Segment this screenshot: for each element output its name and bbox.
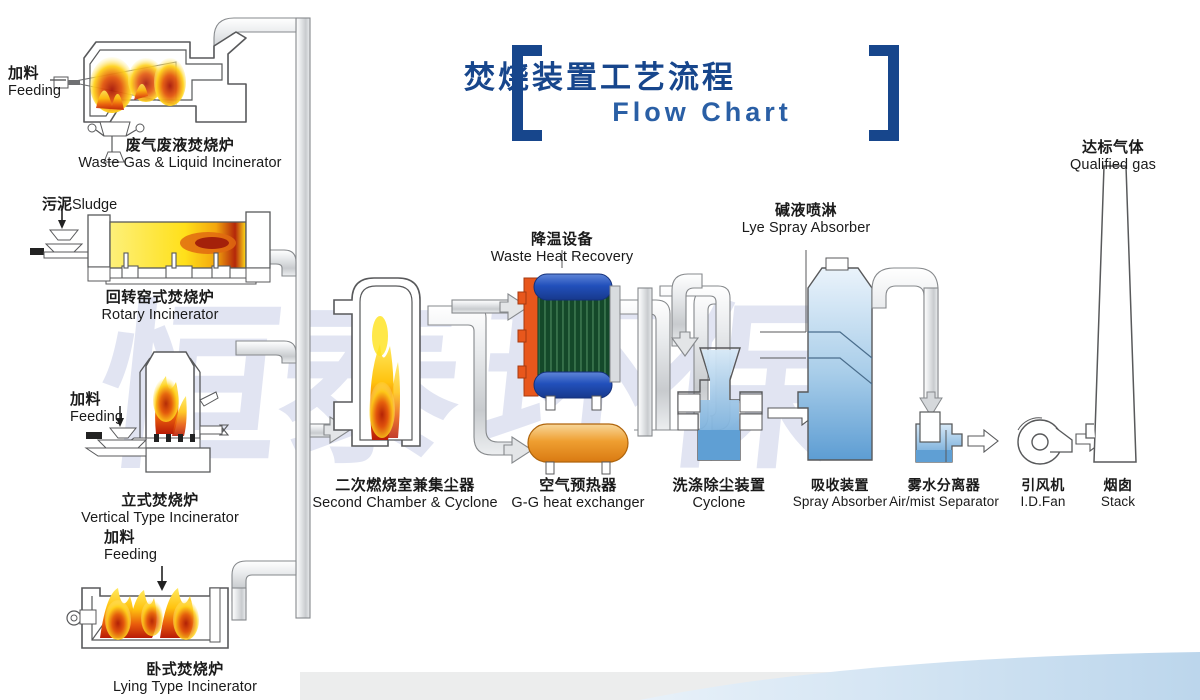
caption-en: Stack xyxy=(1101,494,1135,509)
caption-en: I.D.Fan xyxy=(1021,494,1066,509)
caption-en: Air/mist Separator xyxy=(889,494,999,509)
annotation-cn: 加料 xyxy=(70,392,123,409)
caption-cn: 引风机 xyxy=(1021,478,1066,494)
annotation-qualified-gas: 达标气体 Qualified gas xyxy=(1070,140,1156,173)
annotation-en: Feeding xyxy=(8,83,61,99)
caption-cn: 雾水分离器 xyxy=(889,478,999,494)
annotation-cn: 污泥 xyxy=(42,196,72,213)
page-title-en: Flow Chart xyxy=(612,97,792,128)
caption-cn: 烟囱 xyxy=(1101,478,1135,494)
caption-gg-heat-exchanger: 空气预热器 G-G heat exchanger xyxy=(511,478,644,511)
annotation-en: Feeding xyxy=(104,547,157,563)
annotation-cn: 降温设备 xyxy=(491,232,633,249)
caption-en: Cyclone xyxy=(672,495,765,511)
caption-cn: 吸收装置 xyxy=(793,478,887,494)
page-title-cn: 焚烧装置工艺流程 xyxy=(464,52,736,97)
caption-en: G-G heat exchanger xyxy=(511,495,644,511)
caption-cn: 立式焚烧炉 xyxy=(81,493,239,510)
caption-cn: 废气废液焚烧炉 xyxy=(78,138,281,155)
annotation-cn: 碱液喷淋 xyxy=(742,203,871,220)
caption-cn: 空气预热器 xyxy=(511,478,644,495)
caption-cn: 回转窑式焚烧炉 xyxy=(101,290,218,307)
annotation-en: Waste Heat Recovery xyxy=(491,249,633,265)
annotation-cn: 达标气体 xyxy=(1070,140,1156,157)
annotation-sludge: 污泥Sludge xyxy=(42,196,117,214)
annotation-cn: 加料 xyxy=(8,66,61,83)
caption-vertical-type-incinerator: 立式焚烧炉 Vertical Type Incinerator xyxy=(81,493,239,526)
caption-spray-absorber: 吸收装置 Spray Absorber xyxy=(793,478,887,509)
caption-second-chamber-cyclone: 二次燃烧室兼集尘器 Second Chamber & Cyclone xyxy=(312,478,497,511)
annotation-feeding-top: 加料 Feeding xyxy=(8,66,61,99)
annotation-en: Feeding xyxy=(70,409,123,425)
caption-id-fan: 引风机 I.D.Fan xyxy=(1021,478,1066,509)
caption-cn: 二次燃烧室兼集尘器 xyxy=(312,478,497,495)
annotation-feeding-middle: 加料 Feeding xyxy=(70,392,123,425)
annotation-cn: 加料 xyxy=(104,530,157,547)
caption-cn: 卧式焚烧炉 xyxy=(113,662,257,679)
caption-waste-gas-liquid-incinerator: 废气废液焚烧炉 Waste Gas & Liquid Incinerator xyxy=(78,138,281,171)
caption-en: Rotary Incinerator xyxy=(101,307,218,323)
annotation-en: Lye Spray Absorber xyxy=(742,220,871,236)
caption-en: Second Chamber & Cyclone xyxy=(312,495,497,511)
caption-washing-cyclone: 洗涤除尘装置 Cyclone xyxy=(672,478,765,511)
caption-en: Vertical Type Incinerator xyxy=(81,510,239,526)
caption-en: Spray Absorber xyxy=(793,494,887,509)
caption-stack: 烟囱 Stack xyxy=(1101,478,1135,509)
annotation-waste-heat-recovery: 降温设备 Waste Heat Recovery xyxy=(491,232,633,265)
caption-en: Waste Gas & Liquid Incinerator xyxy=(78,155,281,171)
annotation-en: Qualified gas xyxy=(1070,157,1156,173)
caption-en: Lying Type Incinerator xyxy=(113,679,257,695)
caption-air-mist-separator: 雾水分离器 Air/mist Separator xyxy=(889,478,999,509)
annotation-feeding-bottom: 加料 Feeding xyxy=(104,530,157,563)
caption-rotary-incinerator: 回转窑式焚烧炉 Rotary Incinerator xyxy=(101,290,218,323)
flow-diagram-canvas: 恒 泰 环 保 xyxy=(0,0,1200,700)
label-layer: 焚烧装置工艺流程 Flow Chart 加料 Feeding 污泥Sludge … xyxy=(0,0,1200,700)
caption-cn: 洗涤除尘装置 xyxy=(672,478,765,495)
annotation-lye-spray-absorber: 碱液喷淋 Lye Spray Absorber xyxy=(742,203,871,236)
annotation-en: Sludge xyxy=(72,197,117,213)
caption-lying-type-incinerator: 卧式焚烧炉 Lying Type Incinerator xyxy=(113,662,257,695)
